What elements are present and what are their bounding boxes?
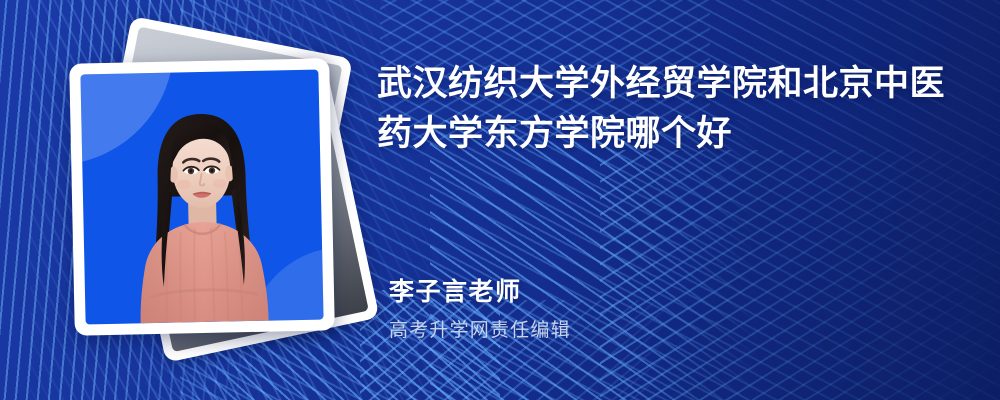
photo-card-front [69,58,335,335]
author-byline-block: 李子言老师 高考升学网责任编辑 [389,275,949,344]
author-profile-banner: 武汉纺织大学外经贸学院和北京中医药大学东方学院哪个好 李子言老师 高考升学网责任… [0,0,1000,400]
headline-block: 武汉纺织大学外经贸学院和北京中医药大学东方学院哪个好 [377,60,967,159]
article-headline: 武汉纺织大学外经贸学院和北京中医药大学东方学院哪个好 [377,60,967,159]
author-photo [80,70,323,325]
author-portrait-illustration [112,102,293,324]
author-name: 李子言老师 [389,275,949,309]
photo-card-stack [60,35,350,355]
author-role: 高考升学网责任编辑 [389,317,949,345]
